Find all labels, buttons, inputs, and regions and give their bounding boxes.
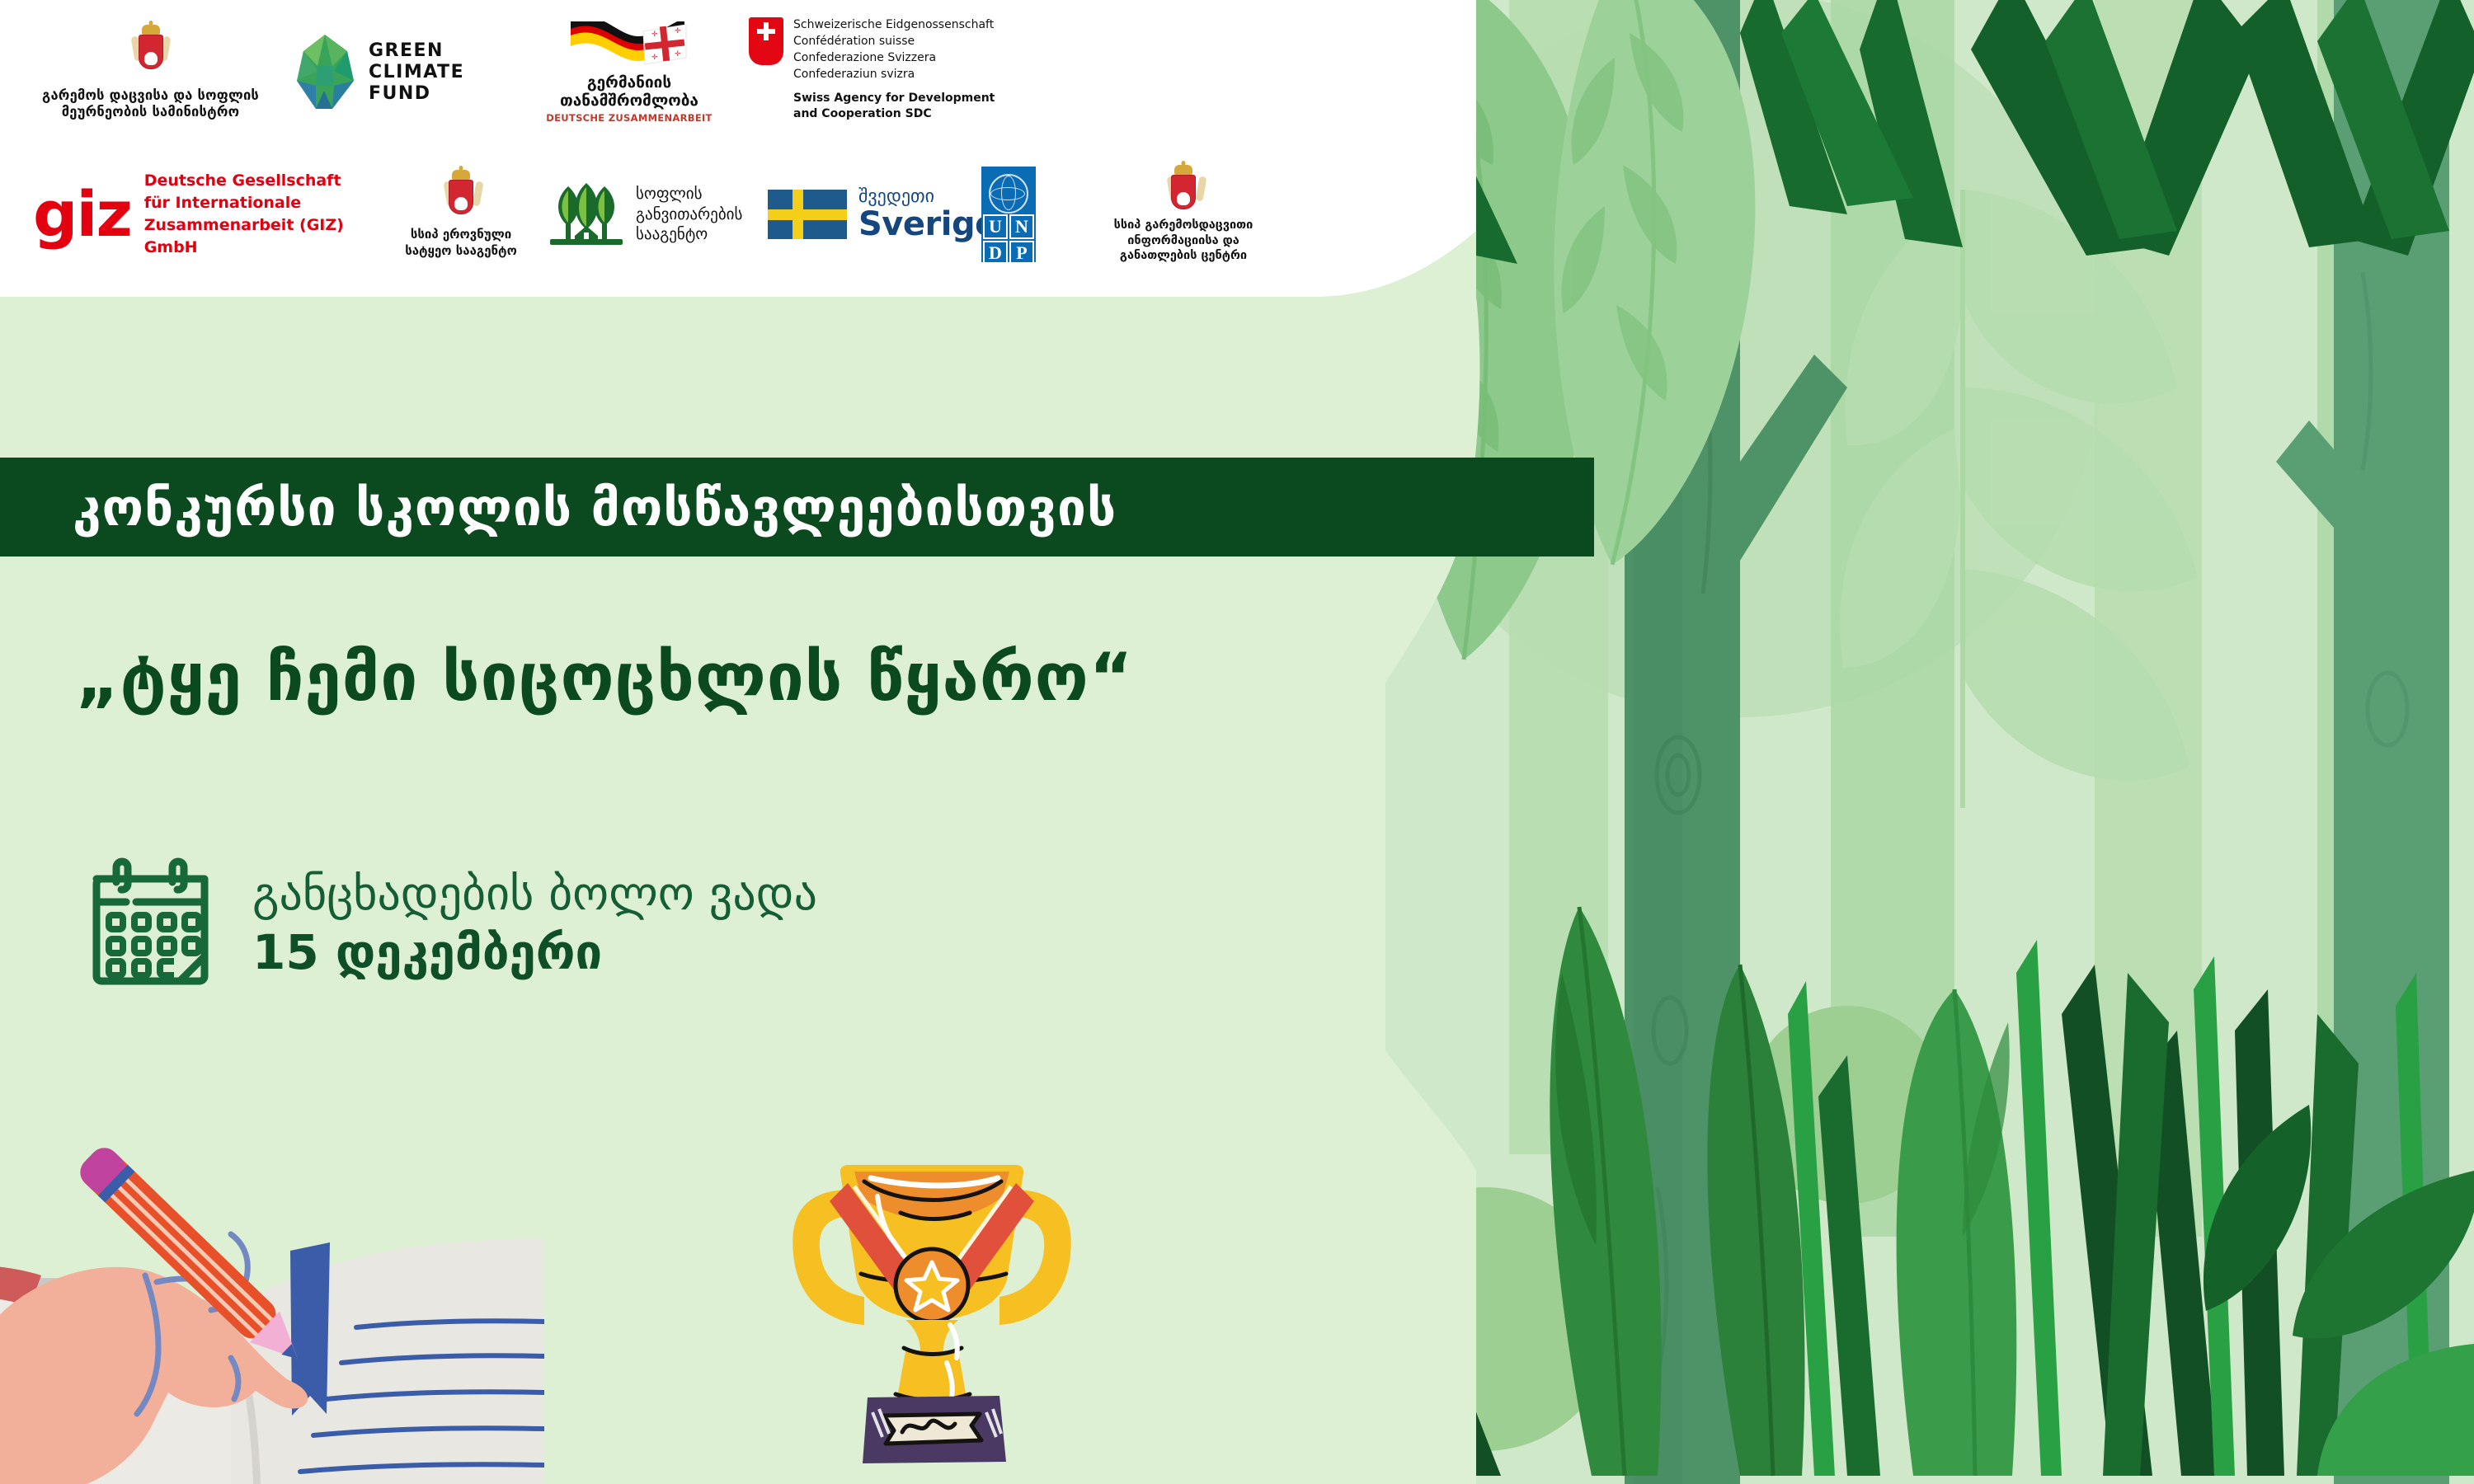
sdc-label-line-1: Schweizerische Eidgenossenschaft: [793, 17, 995, 34]
logo-environmental-information-education-centre: სსიპ გარემოსდაცვითი ინფორმაციისა და განა…: [1089, 153, 1278, 276]
giz-label-line-3: Zusammenarbeit (GIZ) GmbH: [144, 214, 375, 259]
page-title: კონკურსი სკოლის მოსწავლეებისთვის: [0, 477, 1117, 538]
svg-text:✛: ✛: [651, 54, 658, 62]
forest-background: [1385, 0, 2474, 1484]
logo-ministry-of-environment-georgia: გარემოს დაცვისა და სოფლის მეურნეობის სამ…: [33, 7, 268, 139]
logo-giz: giz Deutsche Gesellschaft für Internatio…: [33, 153, 375, 276]
eiec-label-line-2: ინფორმაციისა და: [1114, 233, 1253, 249]
swiss-flag-shield-icon: [749, 17, 783, 65]
deadline-date: 15 დეკემბერი: [252, 924, 817, 980]
giz-label-line-2: für Internationale: [144, 192, 375, 214]
sweden-label-georgian: შვედეთი: [858, 187, 997, 207]
hand-pencil-notebook-illustration: [0, 1035, 544, 1484]
undp-letter-d: D: [983, 241, 1008, 265]
calendar-icon: [87, 857, 214, 989]
rda-label-line-2: განვითარების: [636, 204, 742, 225]
logo-undp: U N D P: [981, 153, 1089, 276]
giz-wordmark-icon: giz: [33, 187, 131, 241]
un-globe-icon: [989, 174, 1028, 214]
gcf-label-line-1: GREEN: [369, 40, 464, 62]
georgia-coat-of-arms-icon: [132, 25, 170, 82]
logo-sweden-sverige: შვედეთი Sverige: [768, 153, 970, 276]
deadline-block: განცხადების ბოლო ვადა 15 დეკემბერი: [87, 857, 817, 989]
sdc-label-line-4: Confederaziun svizra: [793, 67, 995, 83]
undp-logo-icon: U N D P: [981, 167, 1036, 262]
trophy-cup-illustration: [759, 1150, 1105, 1484]
svg-text:✛: ✛: [675, 50, 681, 59]
three-trees-house-icon: [548, 183, 624, 246]
ministry-label-line-1: გარემოს დაცვისა და სოფლის: [42, 87, 259, 104]
sweden-flag-icon: [768, 190, 847, 239]
rda-label-line-3: სააგენტო: [636, 224, 742, 245]
svg-text:✛: ✛: [651, 31, 658, 39]
giz-label-line-1: Deutsche Gesellschaft: [144, 170, 375, 192]
logo-national-forestry-agency: სსიპ ეროვნული სატყეო სააგენტო: [387, 153, 535, 276]
logo-green-climate-fund: GREEN CLIMATE FUND: [293, 7, 511, 139]
undp-letter-u: U: [983, 214, 1008, 239]
logo-row-1: გარემოს დაცვისა და სოფლის მეურნეობის სამ…: [33, 7, 1021, 139]
sdc-bold-line-1: Swiss Agency for Development: [793, 91, 995, 107]
german-coop-label-line-1: გერმანიის: [560, 74, 698, 92]
logo-row-2: giz Deutsche Gesellschaft für Internatio…: [33, 153, 1278, 276]
forestry-label-line-2: სატყეო სააგენტო: [405, 243, 517, 260]
svg-text:✛: ✛: [675, 27, 681, 35]
undp-letter-n: N: [1009, 214, 1034, 239]
german-coop-label-line-2: თანამშრომლობა: [560, 92, 698, 110]
rda-label-line-1: სოფლის: [636, 184, 742, 204]
georgia-coat-of-arms-icon: [1168, 165, 1199, 213]
logo-swiss-confederation-sdc: Schweizerische Eidgenossenschaft Confédé…: [749, 0, 1021, 149]
undp-letter-p: P: [1009, 241, 1034, 265]
sdc-label-line-2: Confédération suisse: [793, 34, 995, 50]
contest-theme-subtitle: „ტყე ჩემი სიცოცხლის წყარო“: [76, 639, 1133, 716]
poster-canvas: გარემოს დაცვისა და სოფლის მეურნეობის სამ…: [0, 0, 2474, 1484]
headline-bar: კონკურსი სკოლის მოსწავლეებისთვის: [0, 458, 1594, 556]
logo-german-cooperation: ✛ ✛ ✛ ✛ გერმანიის თანამშრომლობა DEUTSCHE…: [518, 7, 741, 139]
partner-logo-band: გარემოს დაცვისა და სოფლის მეურნეობის სამ…: [0, 0, 1476, 297]
georgia-coat-of-arms-icon: [444, 170, 477, 221]
sdc-label-line-3: Confederazione Svizzera: [793, 50, 995, 67]
german-coop-sub-label: DEUTSCHE ZUSAMMENARBEIT: [546, 112, 712, 124]
forestry-label-line-1: სსიპ ეროვნული: [405, 227, 517, 243]
deadline-label: განცხადების ბოლო ვადა: [252, 867, 817, 921]
gcf-label-line-3: FUND: [369, 83, 464, 105]
sverige-wordmark: Sverige: [858, 207, 997, 242]
germany-georgia-flag-wave-icon: ✛ ✛ ✛ ✛: [567, 21, 691, 73]
sdc-bold-line-2: and Cooperation SDC: [793, 106, 995, 123]
logo-rural-development-agency: სოფლის განვითარების სააგენტო: [548, 153, 755, 276]
green-climate-fund-gem-icon: [293, 33, 357, 112]
ministry-label-line-2: მეურნეობის სამინისტრო: [42, 104, 259, 120]
eiec-label-line-3: განათლების ცენტრი: [1114, 248, 1253, 264]
eiec-label-line-1: სსიპ გარემოსდაცვითი: [1114, 218, 1253, 233]
gcf-label-line-2: CLIMATE: [369, 62, 464, 83]
